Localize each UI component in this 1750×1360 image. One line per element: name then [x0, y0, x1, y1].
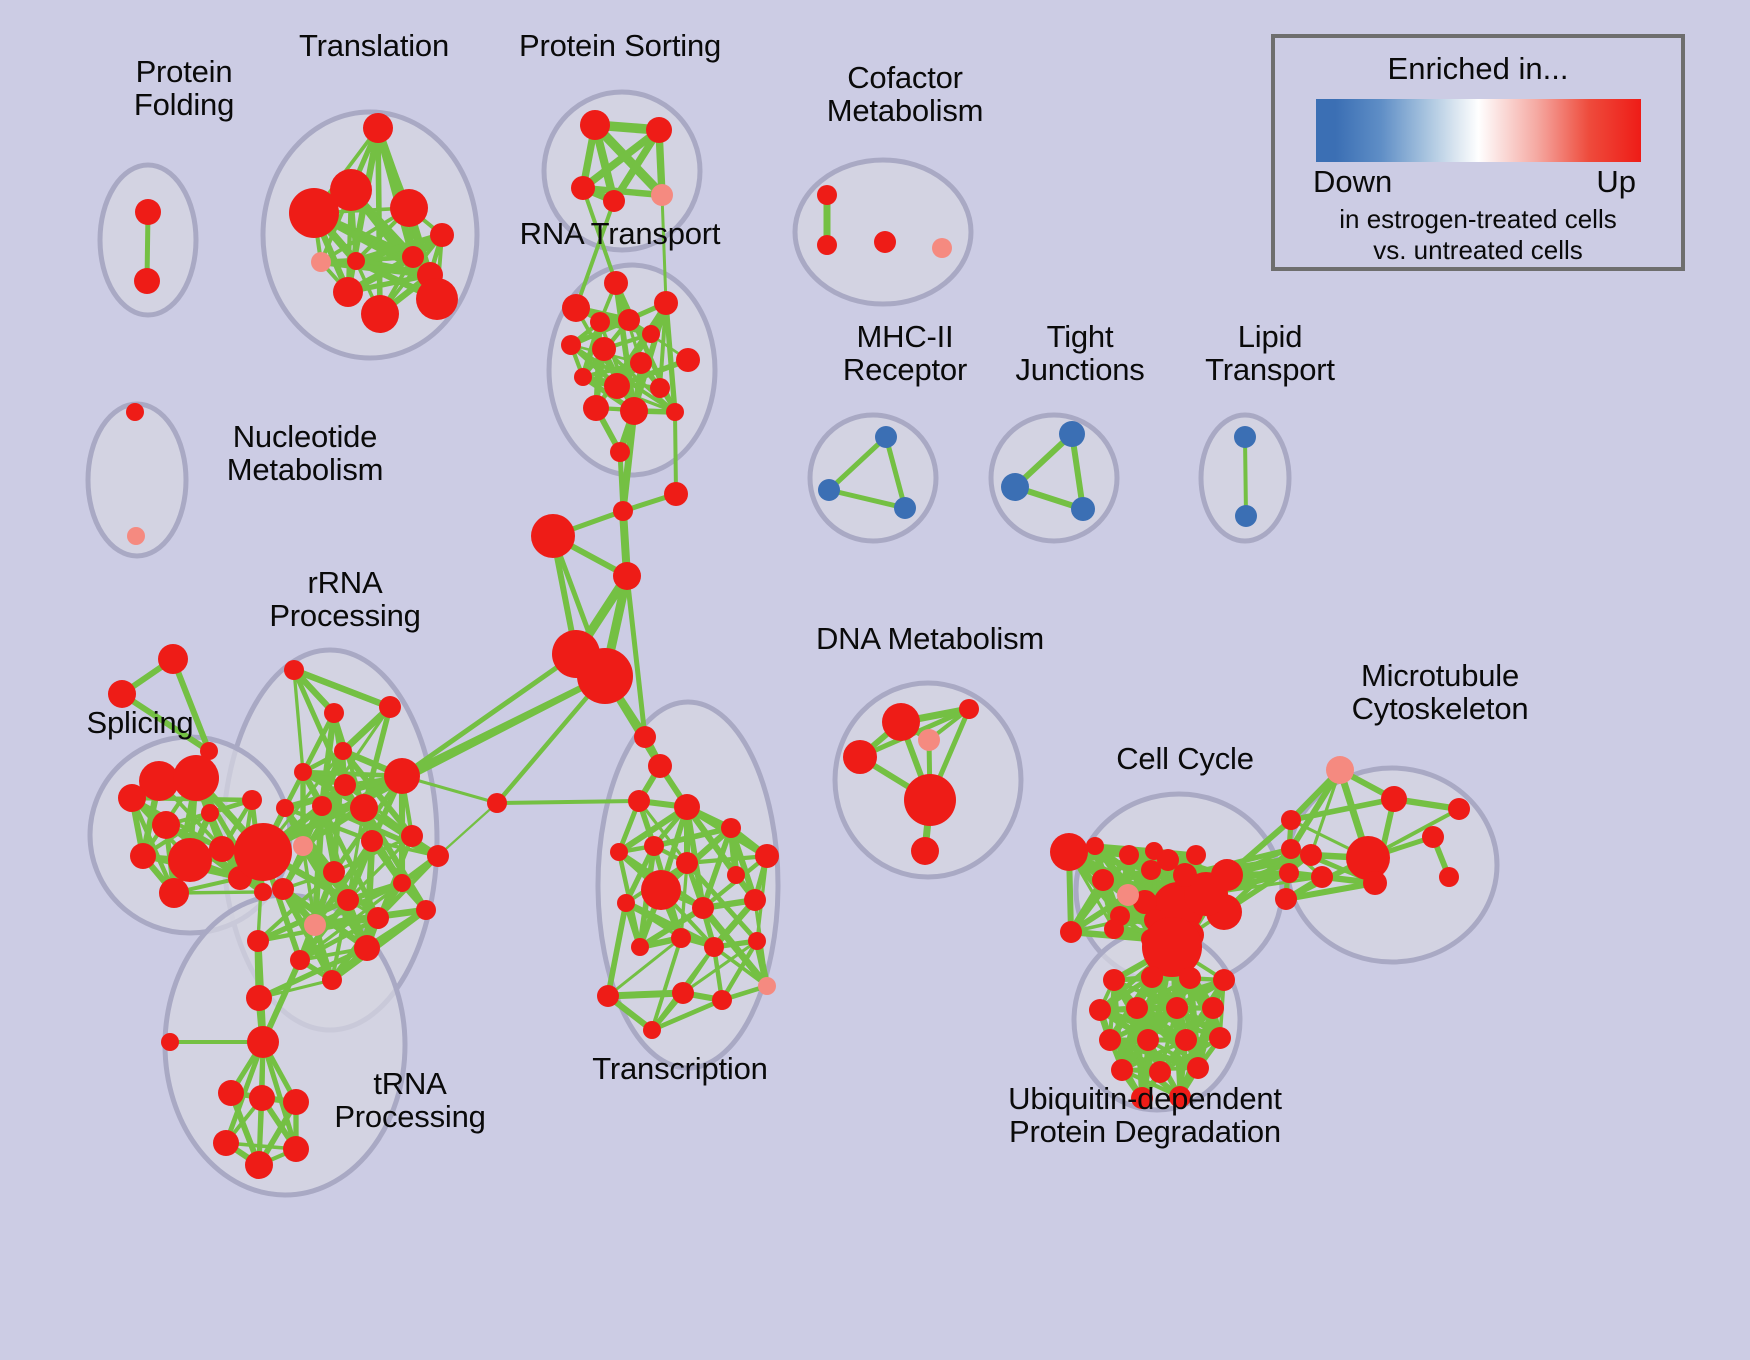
network-node: [671, 928, 691, 948]
network-node: [384, 758, 420, 794]
network-node: [604, 271, 628, 295]
network-node: [1050, 833, 1088, 871]
network-node: [1131, 1087, 1153, 1109]
network-node: [674, 794, 700, 820]
network-node: [1279, 863, 1299, 883]
network-node: [347, 252, 365, 270]
network-node: [1363, 871, 1387, 895]
network-node: [634, 726, 656, 748]
network-node: [1089, 999, 1111, 1021]
network-node: [748, 932, 766, 950]
network-node: [322, 970, 342, 990]
network-node: [712, 990, 732, 1010]
network-node: [571, 176, 595, 200]
network-node: [1202, 997, 1224, 1019]
network-node: [416, 278, 458, 320]
network-node: [245, 1151, 273, 1179]
legend-down-label: Down: [1313, 164, 1392, 200]
network-node: [130, 843, 156, 869]
network-node: [234, 823, 292, 881]
network-node: [875, 426, 897, 448]
network-node: [337, 889, 359, 911]
network-node: [721, 818, 741, 838]
network-node: [817, 185, 837, 205]
network-node: [874, 231, 896, 253]
network-node: [276, 799, 294, 817]
network-node: [1119, 845, 1139, 865]
network-node: [159, 878, 189, 908]
network-node: [590, 312, 610, 332]
network-node: [213, 1130, 239, 1156]
network-node: [390, 189, 428, 227]
network-node: [290, 950, 310, 970]
network-node: [272, 878, 294, 900]
network-node: [1179, 967, 1201, 989]
network-node: [323, 861, 345, 883]
legend-sublabel: in estrogen-treated cells vs. untreated …: [1275, 204, 1681, 265]
network-node: [1086, 837, 1104, 855]
network-node: [1059, 421, 1085, 447]
network-node: [350, 794, 378, 822]
network-node: [651, 184, 673, 206]
network-node: [818, 479, 840, 501]
network-node: [843, 740, 877, 774]
network-edge: [608, 993, 683, 996]
network-node: [1422, 826, 1444, 848]
network-node: [1213, 969, 1235, 991]
network-node: [630, 352, 652, 374]
network-node: [1137, 1029, 1159, 1051]
network-node: [487, 793, 507, 813]
network-node: [152, 811, 180, 839]
network-node: [932, 238, 952, 258]
network-node: [592, 337, 616, 361]
network-node: [134, 268, 160, 294]
network-node: [882, 703, 920, 741]
network-node: [704, 937, 724, 957]
network-node: [1117, 884, 1139, 906]
network-node: [597, 985, 619, 1007]
network-node: [904, 774, 956, 826]
network-node: [361, 295, 399, 333]
network-node: [644, 836, 664, 856]
network-node: [666, 403, 684, 421]
network-node: [1169, 1086, 1191, 1108]
legend-endpoints: Down Up: [1275, 164, 1681, 202]
network-node: [1211, 859, 1243, 891]
network-node: [1300, 844, 1322, 866]
network-node: [1103, 969, 1125, 991]
network-node: [1145, 842, 1163, 860]
network-node: [676, 852, 698, 874]
network-node: [744, 889, 766, 911]
network-node: [363, 113, 393, 143]
network-node: [254, 883, 272, 901]
network-node: [646, 117, 672, 143]
network-node: [583, 395, 609, 421]
network-node: [1186, 845, 1206, 865]
network-node: [367, 907, 389, 929]
network-node: [1175, 1029, 1197, 1051]
network-node: [654, 291, 678, 315]
network-node: [664, 482, 688, 506]
network-node: [618, 309, 640, 331]
network-node: [218, 1080, 244, 1106]
network-node: [289, 188, 339, 238]
network-node: [283, 1089, 309, 1115]
network-node: [354, 935, 380, 961]
network-node: [304, 914, 326, 936]
network-node: [118, 784, 146, 812]
network-node: [1149, 1061, 1171, 1083]
network-node: [173, 755, 219, 801]
network-node: [416, 900, 436, 920]
network-node: [727, 866, 745, 884]
network-node: [401, 825, 423, 847]
network-node: [672, 982, 694, 1004]
network-node: [918, 729, 940, 751]
network-node: [1281, 810, 1301, 830]
network-node: [959, 699, 979, 719]
network-node: [692, 897, 714, 919]
network-node: [648, 754, 672, 778]
network-node: [1071, 497, 1095, 521]
network-node: [361, 830, 383, 852]
network-node: [135, 199, 161, 225]
network-node: [561, 335, 581, 355]
network-node: [334, 742, 352, 760]
network-node: [758, 977, 776, 995]
legend-up-label: Up: [1596, 164, 1636, 200]
network-node: [676, 348, 700, 372]
network-node: [293, 836, 313, 856]
network-node: [911, 837, 939, 865]
network-node: [311, 252, 331, 272]
network-node: [249, 1085, 275, 1111]
legend-panel: Enriched in... Down Up in estrogen-treat…: [1271, 34, 1685, 271]
network-node: [247, 930, 269, 952]
network-node: [324, 703, 344, 723]
network-node: [209, 836, 235, 862]
network-node: [1104, 919, 1124, 939]
network-node: [1166, 997, 1188, 1019]
network-node: [402, 246, 424, 268]
network-node: [333, 277, 363, 307]
network-node: [1311, 866, 1333, 888]
network-node: [1092, 869, 1114, 891]
network-node: [246, 985, 272, 1011]
network-node: [247, 1026, 279, 1058]
network-node: [312, 796, 332, 816]
legend-colorbar: [1316, 99, 1641, 162]
network-node: [283, 1136, 309, 1162]
network-node: [1099, 1029, 1121, 1051]
network-node: [1235, 505, 1257, 527]
network-node: [201, 804, 219, 822]
network-node: [1381, 786, 1407, 812]
network-node: [650, 378, 670, 398]
network-node: [1126, 997, 1148, 1019]
network-node: [894, 497, 916, 519]
network-node: [610, 442, 630, 462]
network-node: [1209, 1027, 1231, 1049]
network-node: [430, 223, 454, 247]
network-node: [642, 325, 660, 343]
network-node: [379, 696, 401, 718]
cluster-ellipse: [544, 92, 700, 250]
network-node: [294, 763, 312, 781]
network-node: [628, 790, 650, 812]
network-node: [1111, 1059, 1133, 1081]
network-node: [755, 844, 779, 868]
legend-title: Enriched in...: [1275, 51, 1681, 87]
network-edge: [1245, 437, 1246, 516]
network-node: [577, 648, 633, 704]
network-node: [1060, 921, 1082, 943]
network-node: [613, 562, 641, 590]
network-node: [817, 235, 837, 255]
network-node: [108, 680, 136, 708]
network-node: [1448, 798, 1470, 820]
cluster-ellipse: [810, 415, 936, 541]
network-node: [604, 373, 630, 399]
network-node: [1326, 756, 1354, 784]
network-node: [1001, 473, 1029, 501]
network-node: [168, 838, 212, 882]
network-node: [531, 514, 575, 558]
network-node: [620, 397, 648, 425]
network-node: [580, 110, 610, 140]
network-node: [1275, 888, 1297, 910]
network-node: [284, 660, 304, 680]
network-node: [242, 790, 262, 810]
network-node: [617, 894, 635, 912]
network-edge: [497, 801, 639, 803]
network-node: [334, 774, 356, 796]
network-node: [1439, 867, 1459, 887]
network-node: [1141, 966, 1163, 988]
network-node: [1187, 1057, 1209, 1079]
network-node: [393, 874, 411, 892]
network-node: [562, 294, 590, 322]
network-node: [631, 938, 649, 956]
enrichment-network-figure: Protein FoldingTranslationProtein Sortin…: [0, 0, 1750, 1360]
network-node: [574, 368, 592, 386]
network-node: [613, 501, 633, 521]
network-node: [161, 1033, 179, 1051]
network-node: [1281, 839, 1301, 859]
network-node: [641, 870, 681, 910]
network-node: [1234, 426, 1256, 448]
network-node: [610, 843, 628, 861]
network-node: [643, 1021, 661, 1039]
network-node: [427, 845, 449, 867]
network-node: [126, 403, 144, 421]
network-node: [158, 644, 188, 674]
network-edge: [675, 412, 676, 494]
network-node: [603, 190, 625, 212]
network-node: [127, 527, 145, 545]
